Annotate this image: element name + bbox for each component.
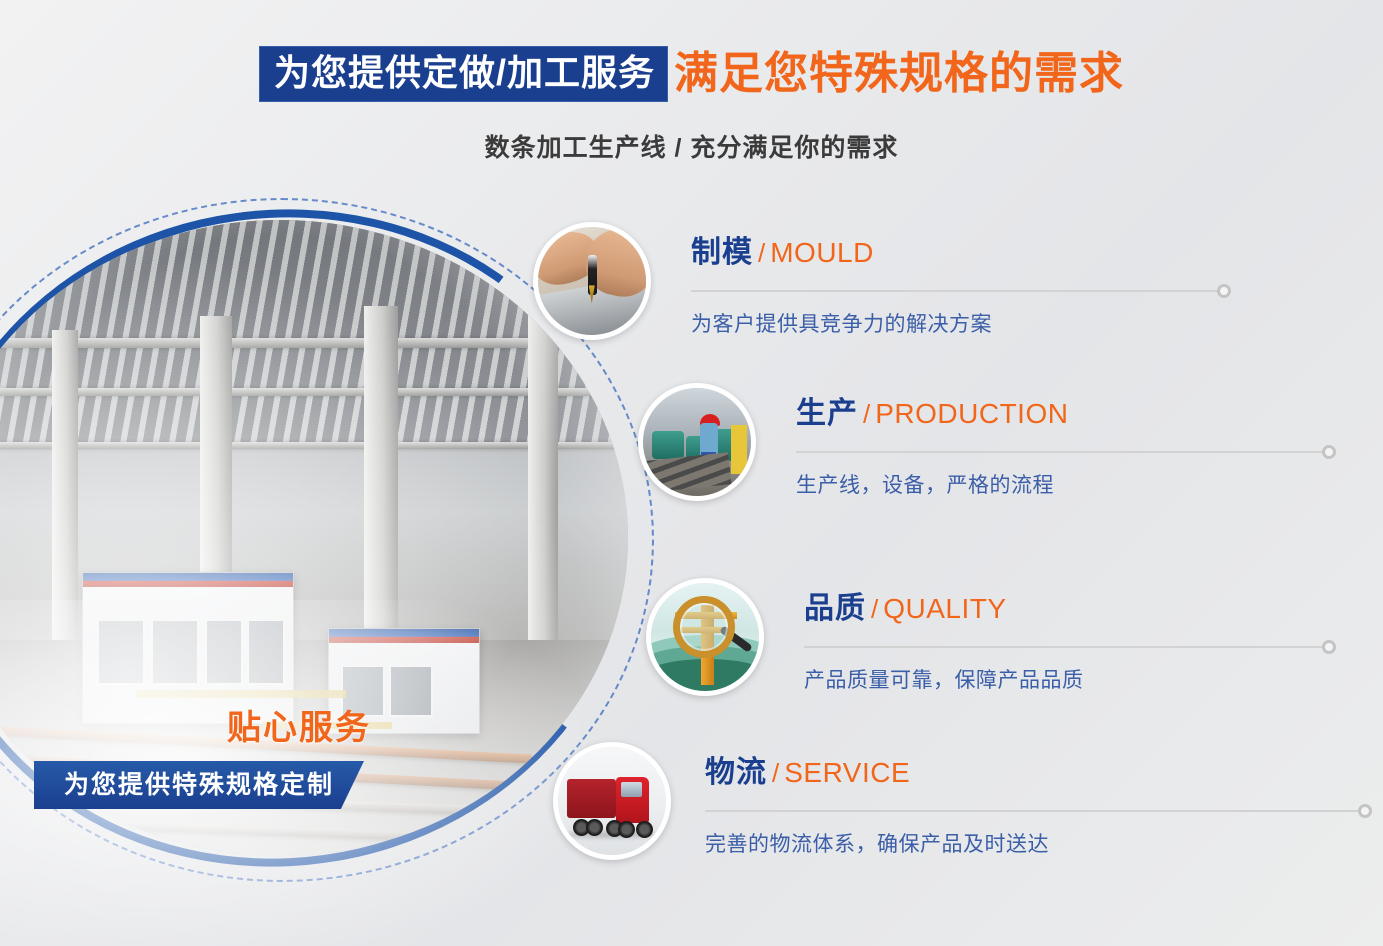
header: 为您提供定做/加工服务 满足您特殊规格的需求 数条加工生产线 / 充分满足你的需… bbox=[0, 46, 1383, 164]
service-title-en: MOULD bbox=[770, 237, 874, 268]
service-title-en: SERVICE bbox=[784, 757, 910, 788]
service-body-quality: 品质/QUALITY 产品质量可靠，保障产品品质 bbox=[804, 594, 1346, 694]
service-separator: / bbox=[866, 594, 883, 624]
service-description: 为客户提供具竞争力的解决方案 bbox=[691, 308, 1233, 338]
service-heading-quality: 品质/QUALITY bbox=[804, 594, 1346, 624]
service-heading-service: 物流/SERVICE bbox=[705, 758, 1383, 788]
service-description: 完善的物流体系，确保产品及时送达 bbox=[705, 828, 1383, 858]
service-heading-mould: 制模/MOULD bbox=[691, 238, 1233, 268]
divider-end-dot-icon bbox=[1358, 804, 1372, 818]
service-divider-line bbox=[796, 451, 1329, 453]
service-divider-line bbox=[705, 810, 1365, 812]
service-body-production: 生产/PRODUCTION 生产线，设备，严格的流程 bbox=[796, 399, 1338, 499]
title-headline: 满足您特殊规格的需求 bbox=[668, 52, 1124, 96]
divider-end-dot-icon bbox=[1322, 445, 1336, 459]
service-description: 产品质量可靠，保障产品品质 bbox=[804, 664, 1346, 694]
subtitle: 数条加工生产线 / 充分满足你的需求 bbox=[0, 128, 1383, 164]
service-caption: 贴心服务 为您提供特殊规格定制 bbox=[34, 700, 454, 809]
service-divider-line bbox=[804, 646, 1329, 648]
service-heading-production: 生产/PRODUCTION bbox=[796, 399, 1338, 429]
service-body-service: 物流/SERVICE 完善的物流体系，确保产品及时送达 bbox=[705, 758, 1383, 858]
scribing-hands-icon bbox=[533, 222, 651, 340]
service-title-en: QUALITY bbox=[883, 593, 1006, 624]
service-title-cn: 物流 bbox=[705, 756, 767, 789]
service-title-en: PRODUCTION bbox=[875, 398, 1068, 429]
caption-banner: 为您提供特殊规格定制 bbox=[34, 761, 364, 809]
delivery-truck-icon bbox=[553, 742, 671, 860]
service-separator: / bbox=[753, 238, 770, 268]
factory-worker-icon bbox=[638, 383, 756, 501]
promo-banner: 为您提供定做/加工服务 满足您特殊规格的需求 数条加工生产线 / 充分满足你的需… bbox=[0, 0, 1383, 946]
magnifier-ruler-icon bbox=[646, 578, 764, 696]
service-separator: / bbox=[767, 758, 784, 788]
divider-end-dot-icon bbox=[1217, 284, 1231, 298]
service-title-cn: 生产 bbox=[796, 397, 858, 430]
title-badge: 为您提供定做/加工服务 bbox=[259, 46, 668, 102]
service-title-cn: 品质 bbox=[804, 592, 866, 625]
service-description: 生产线，设备，严格的流程 bbox=[796, 469, 1338, 499]
divider-end-dot-icon bbox=[1322, 640, 1336, 654]
service-body-mould: 制模/MOULD 为客户提供具竞争力的解决方案 bbox=[691, 238, 1233, 338]
service-separator: / bbox=[858, 399, 875, 429]
service-divider-line bbox=[691, 290, 1224, 292]
caption-title: 贴心服务 bbox=[149, 700, 449, 749]
title-row: 为您提供定做/加工服务 满足您特殊规格的需求 bbox=[259, 46, 1124, 102]
service-title-cn: 制模 bbox=[691, 236, 753, 269]
